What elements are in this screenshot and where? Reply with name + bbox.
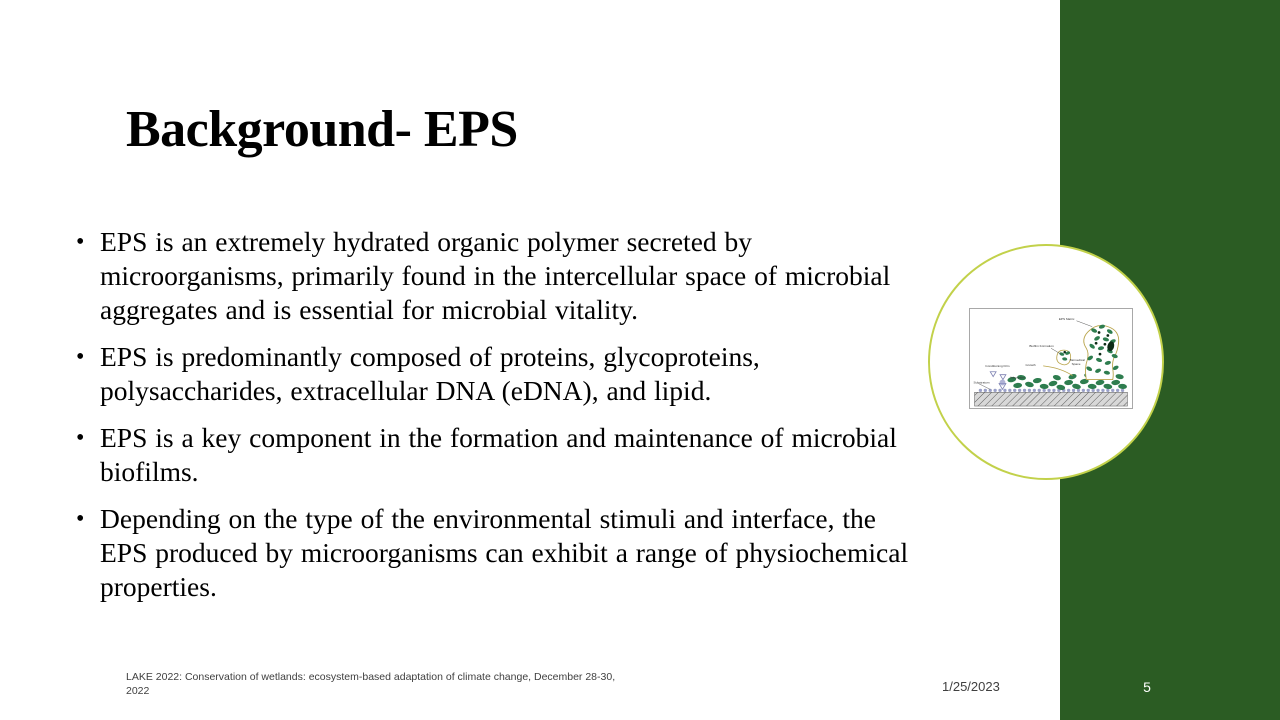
svg-text:Space: Space bbox=[1072, 362, 1081, 366]
svg-text:Adsorption: Adsorption bbox=[1010, 376, 1025, 380]
biofilm-formation-diagram: EPS Matrix Biofilm Formation Biomedical … bbox=[969, 308, 1133, 409]
slide-number: 5 bbox=[1132, 679, 1162, 695]
list-item: EPS is predominantly composed of protein… bbox=[72, 340, 912, 408]
svg-text:Growth: Growth bbox=[1026, 363, 1036, 367]
svg-text:Conditioning Film: Conditioning Film bbox=[985, 364, 1010, 368]
list-item: EPS is an extremely hydrated organic pol… bbox=[72, 225, 912, 327]
footer-citation: LAKE 2022: Conservation of wetlands: eco… bbox=[126, 670, 626, 698]
footer-date: 1/25/2023 bbox=[942, 679, 1000, 695]
biofilm-diagram-svg: EPS Matrix Biofilm Formation Biomedical … bbox=[970, 309, 1132, 408]
list-item: Depending on the type of the environment… bbox=[72, 502, 912, 604]
svg-text:Substratum: Substratum bbox=[974, 380, 990, 384]
list-item: EPS is a key component in the formation … bbox=[72, 421, 912, 489]
page-title: Background- EPS bbox=[126, 100, 946, 160]
presentation-slide: Background- EPS EPS is an extremely hydr… bbox=[0, 0, 1280, 720]
svg-text:Biofilm Formation: Biofilm Formation bbox=[1029, 344, 1054, 348]
svg-text:EPS Matrix: EPS Matrix bbox=[1059, 317, 1075, 321]
bullet-list: EPS is an extremely hydrated organic pol… bbox=[72, 225, 912, 617]
